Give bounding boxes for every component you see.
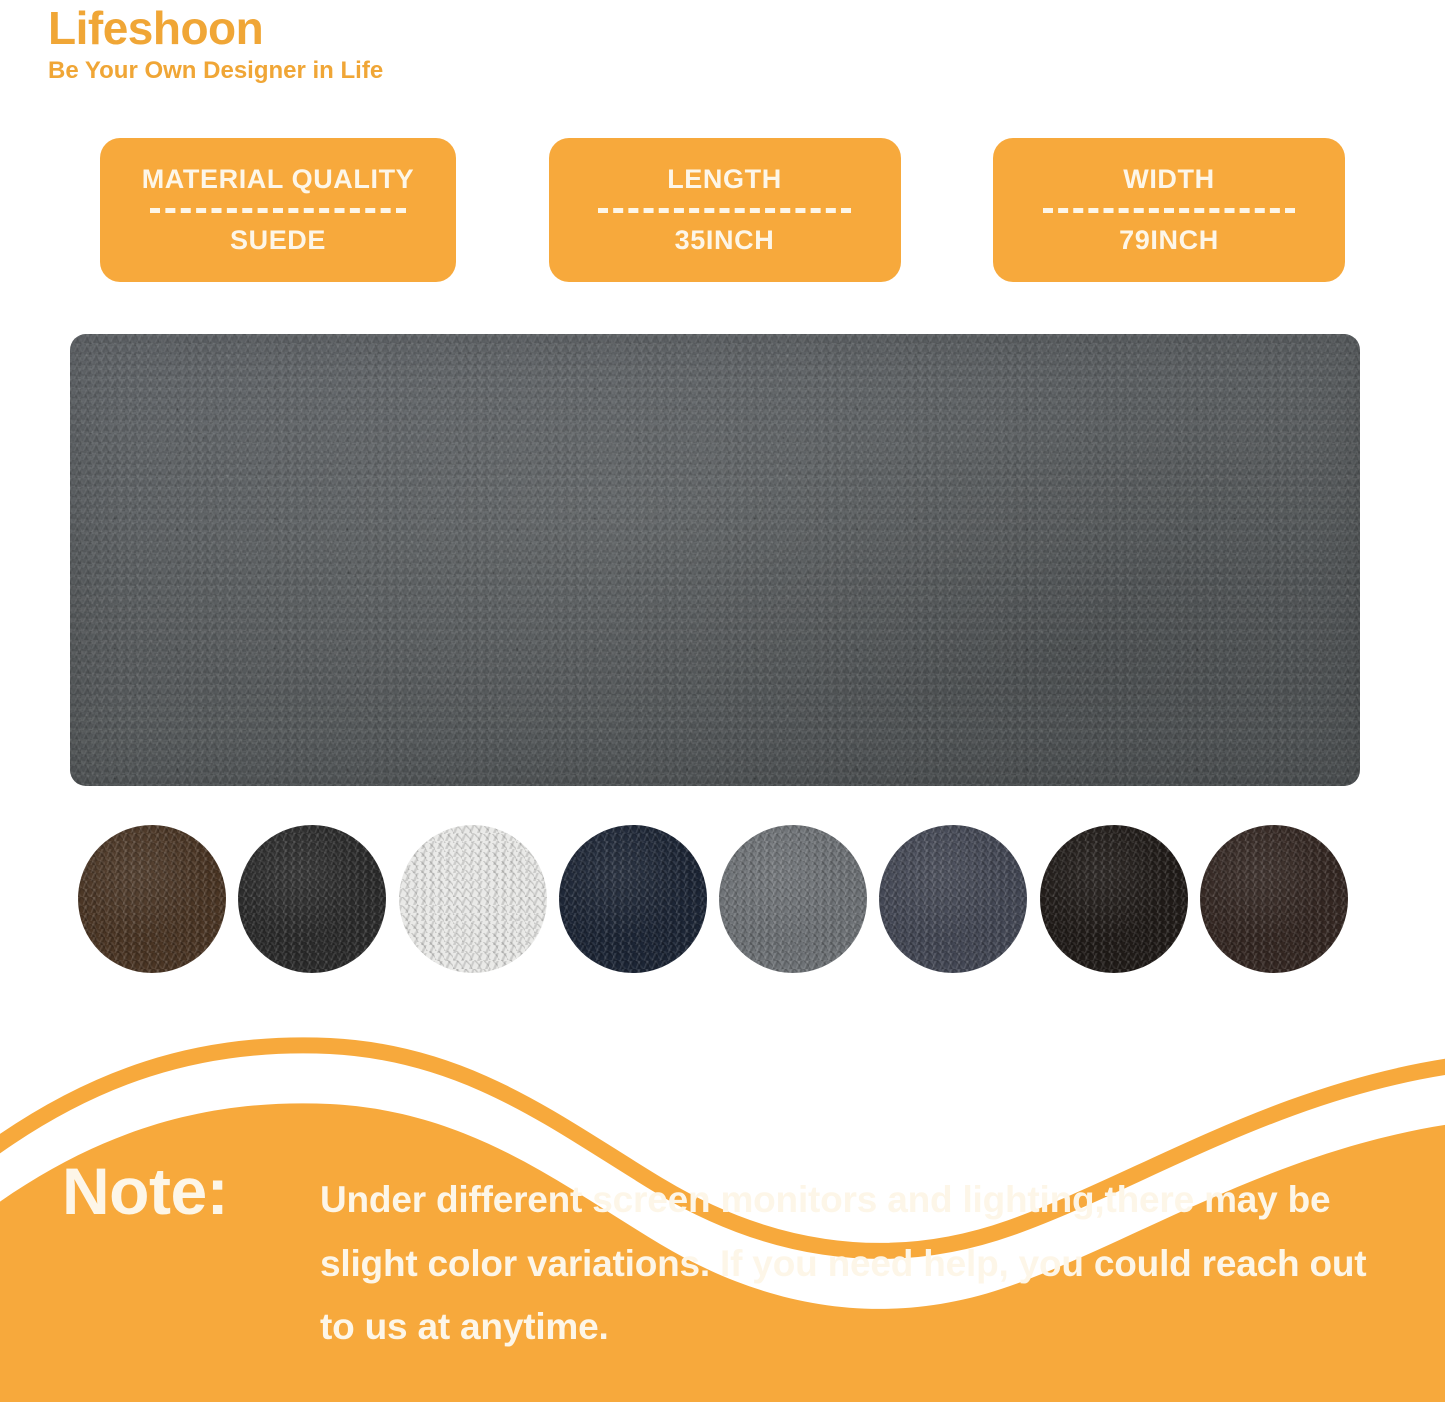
brand-tagline: Be Your Own Designer in Life [48, 58, 748, 84]
color-swatch-navy-blue[interactable] [559, 825, 707, 973]
spec-card-value: 35INCH [675, 226, 775, 256]
spec-card-value: SUEDE [230, 226, 326, 256]
spec-card-width: WIDTH 79INCH [993, 138, 1345, 282]
color-swatch-medium-gray[interactable] [719, 825, 867, 973]
spec-card-value: 79INCH [1119, 226, 1219, 256]
color-swatch-slate-blue-gray[interactable] [879, 825, 1027, 973]
note-section: Note: Under different screen monitors an… [0, 1016, 1445, 1402]
dashed-divider [1043, 208, 1296, 213]
color-swatch-ivory-white[interactable] [399, 825, 547, 973]
spec-card-row: MATERIAL QUALITY SUEDE LENGTH 35INCH WID… [100, 138, 1345, 282]
product-rug-image [70, 334, 1360, 786]
spec-card-title: WIDTH [1123, 165, 1214, 195]
note-content: Note: Under different screen monitors an… [0, 1142, 1445, 1402]
spec-card-title: MATERIAL QUALITY [142, 165, 415, 195]
color-swatch-near-black-brown[interactable] [1040, 825, 1188, 973]
spec-card-material-quality: MATERIAL QUALITY SUEDE [100, 138, 456, 282]
brand-header: Lifeshoon Be Your Own Designer in Life [48, 4, 748, 85]
spec-card-length: LENGTH 35INCH [549, 138, 901, 282]
color-swatch-charcoal-black[interactable] [238, 825, 386, 973]
color-swatch-row [78, 824, 1348, 974]
note-heading: Note: [62, 1158, 228, 1224]
spec-card-title: LENGTH [667, 165, 782, 195]
dashed-divider [598, 208, 851, 213]
product-infographic: Lifeshoon Be Your Own Designer in Life M… [0, 0, 1445, 1402]
note-body-text: Under different screen monitors and ligh… [320, 1168, 1400, 1359]
dashed-divider [150, 208, 406, 213]
brand-name: Lifeshoon [48, 4, 748, 52]
color-swatch-dark-coffee-brown[interactable] [78, 825, 226, 973]
color-swatch-espresso-brown[interactable] [1200, 825, 1348, 973]
